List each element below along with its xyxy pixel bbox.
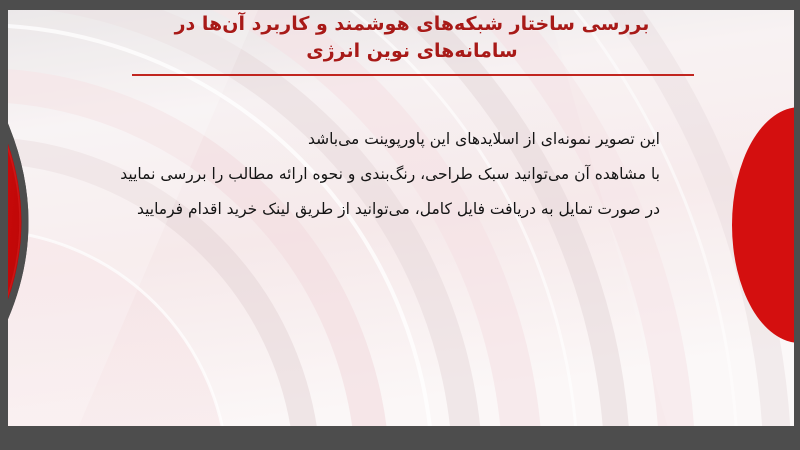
presentation-slide: بررسی ساختار شبکه‌های هوشمند و کاربرد آن…: [0, 0, 800, 450]
frame-left-band: [0, 0, 8, 450]
title-line-1: بررسی ساختار شبکه‌های هوشمند و کاربرد آن…: [120, 11, 704, 38]
body-line-2: با مشاهده آن می‌توانید سبک طراحی، رنگ‌بن…: [130, 157, 660, 192]
slide-body-text: این تصویر نمونه‌ای از اسلایدهای این پاور…: [130, 122, 660, 227]
frame-bottom-band: [0, 426, 800, 450]
frame-right-band: [794, 0, 800, 450]
body-line-1: این تصویر نمونه‌ای از اسلایدهای این پاور…: [130, 122, 660, 157]
title-line-2: سامانه‌های نوین انرژی: [120, 38, 704, 65]
body-line-3: در صورت تمایل به دریافت فایل کامل، می‌تو…: [130, 192, 660, 227]
title-underline-rule: [132, 74, 694, 76]
slide-title: بررسی ساختار شبکه‌های هوشمند و کاربرد آن…: [120, 11, 704, 65]
frame-top-band: [0, 0, 800, 10]
